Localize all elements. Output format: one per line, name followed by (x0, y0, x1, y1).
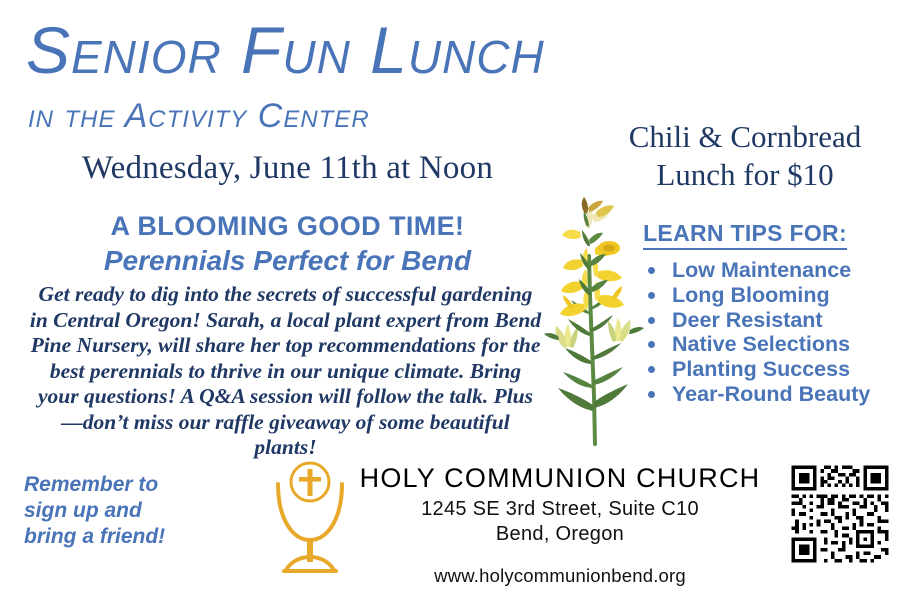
signup-callout-line-3: bring a friend! (24, 524, 234, 550)
signup-callout: Remember to sign up and bring a friend! (24, 472, 234, 550)
list-item: Deer Resistant (646, 308, 896, 333)
promo-subheadline: Perennials Perfect for Bend (0, 244, 575, 278)
qr-code[interactable] (788, 462, 892, 566)
list-item: Long Blooming (646, 283, 896, 308)
list-item: Native Selections (646, 332, 896, 357)
list-item: Year-Round Beauty (646, 382, 896, 407)
list-item: Planting Success (646, 357, 896, 382)
tip-label: Planting Success (672, 357, 850, 381)
yellow-perennial-flower-illustration (540, 196, 650, 446)
tip-label: Deer Resistant (672, 308, 823, 332)
chalice-with-cross-logo (268, 456, 352, 576)
tip-label: Year-Round Beauty (672, 382, 870, 406)
learn-tips-heading-text: LEARN TIPS FOR: (643, 220, 847, 250)
tips-list: Low Maintenance Long Blooming Deer Resis… (646, 258, 896, 407)
tip-label: Low Maintenance (672, 258, 851, 282)
promo-headline: A BLOOMING GOOD TIME! (0, 210, 575, 242)
page-title: Senior Fun Lunch (26, 12, 796, 88)
tip-label: Native Selections (672, 332, 850, 356)
meal-line-2: Lunch for $10 (600, 156, 890, 194)
church-name: HOLY COMMUNION CHURCH (350, 462, 770, 494)
meal-line-1: Chili & Cornbread (600, 118, 890, 156)
church-city-state: Bend, Oregon (350, 522, 770, 547)
event-description: Get ready to dig into the secrets of suc… (28, 282, 543, 461)
church-info: HOLY COMMUNION CHURCH 1245 SE 3rd Street… (350, 462, 770, 588)
church-website[interactable]: www.holycommunionbend.org (350, 564, 770, 588)
tip-label: Long Blooming (672, 283, 830, 307)
list-item: Low Maintenance (646, 258, 896, 283)
meal-info: Chili & Cornbread Lunch for $10 (600, 118, 890, 194)
page-subtitle: in the Activity Center (28, 96, 588, 136)
event-date-time: Wednesday, June 11th at Noon (0, 148, 575, 188)
signup-callout-line-2: sign up and (24, 498, 234, 524)
church-address: 1245 SE 3rd Street, Suite C10 (350, 497, 770, 522)
signup-callout-line-1: Remember to (24, 472, 234, 498)
flyer-page: Senior Fun Lunch in the Activity Center … (0, 0, 900, 600)
